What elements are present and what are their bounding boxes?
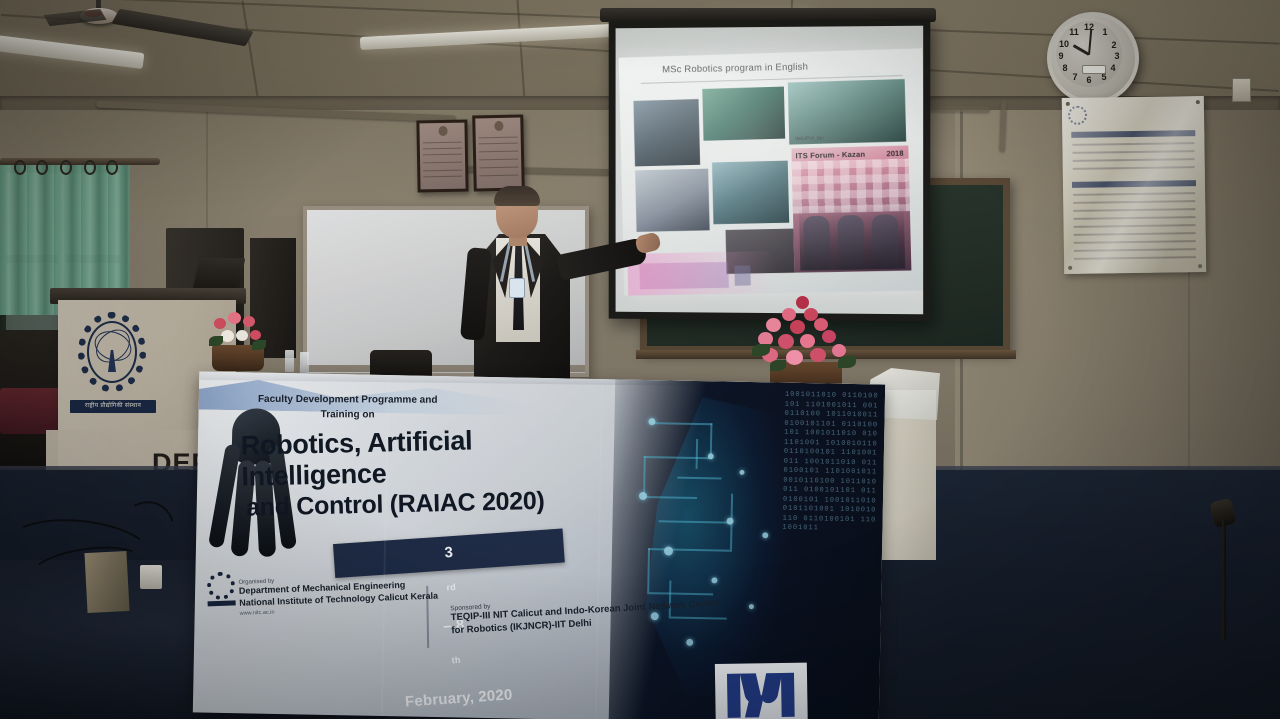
institute-motto-bar: राष्ट्रीय प्रौद्योगिकी संस्थान bbox=[70, 400, 156, 413]
presenter-right-hand bbox=[634, 231, 662, 254]
clock-numeral: 1 bbox=[1099, 27, 1111, 37]
banner-title: Robotics, Artificial Intelligence and Co… bbox=[218, 423, 570, 524]
notice-board bbox=[1062, 96, 1206, 274]
notice-pin bbox=[1068, 266, 1072, 270]
chalk-ledge bbox=[636, 350, 1016, 359]
curtain-ring bbox=[36, 160, 48, 175]
clock-numeral: 9 bbox=[1055, 51, 1067, 61]
clock-minute-hand bbox=[1088, 29, 1092, 55]
kazan-caption: ITS Forum - Kazan bbox=[795, 150, 865, 161]
slide-photo-caption: IMG/PIX_Mo bbox=[795, 136, 824, 143]
clock-numeral: 3 bbox=[1111, 51, 1123, 61]
group-photo-people bbox=[799, 206, 905, 270]
slide-title: MSc Robotics program in English bbox=[662, 62, 808, 76]
notice-pin bbox=[1196, 100, 1200, 104]
clock-numeral: 10 bbox=[1058, 39, 1070, 49]
projection-surface: MSc Robotics program in English IMG/PIX_… bbox=[616, 26, 924, 315]
clock-numeral: 7 bbox=[1069, 72, 1081, 82]
microphone-stand[interactable] bbox=[1222, 520, 1226, 640]
clock-numeral: 2 bbox=[1108, 40, 1120, 50]
nit-logo-small bbox=[207, 571, 236, 606]
curtain-ring bbox=[14, 160, 26, 175]
slide-footer-logo bbox=[734, 265, 750, 285]
photo-scene: 12 1 2 3 4 5 6 7 8 9 10 11 bbox=[0, 0, 1280, 719]
slide-photo-kazan: ITS Forum - Kazan 2018 bbox=[791, 145, 911, 272]
banner-heading-line2: Training on bbox=[321, 409, 375, 420]
clock-face: 12 1 2 3 4 5 6 7 8 9 10 11 bbox=[1056, 21, 1122, 87]
banner-heading: Faculty Development Programme and Traini… bbox=[213, 392, 483, 423]
red-chair[interactable] bbox=[0, 388, 62, 434]
notice-pin bbox=[1198, 264, 1202, 268]
curtain-ring bbox=[84, 160, 96, 175]
water-glass[interactable] bbox=[300, 352, 309, 374]
notice-glare bbox=[1062, 96, 1206, 274]
kazan-year: 2018 bbox=[886, 149, 903, 158]
ikjncr-mark-icon bbox=[727, 673, 794, 718]
curtain-ring bbox=[106, 160, 118, 175]
water-glass[interactable] bbox=[285, 350, 294, 372]
presenter bbox=[452, 186, 658, 382]
clock-numeral: 11 bbox=[1068, 27, 1080, 37]
presenter-right-arm bbox=[556, 237, 647, 281]
slide-photo bbox=[712, 161, 789, 225]
wall-seam bbox=[206, 110, 208, 230]
certificate-paper bbox=[475, 118, 521, 189]
id-badge bbox=[509, 278, 525, 298]
sponsor-logo-wall bbox=[792, 159, 910, 214]
banner-title-line1: Robotics, Artificial Intelligence bbox=[240, 423, 569, 492]
slide-photo bbox=[702, 87, 785, 141]
institute-motto-text: राष्ट्रीय प्रौद्योगिकी संस्थान bbox=[70, 400, 156, 413]
banner-heading-line1: Faculty Development Programme and bbox=[258, 394, 438, 406]
podium-microphone[interactable] bbox=[193, 258, 246, 290]
slide-photo bbox=[633, 99, 700, 166]
certificate-paper bbox=[419, 123, 465, 190]
clock-numeral: 8 bbox=[1059, 63, 1071, 73]
ikjncr-logo bbox=[715, 663, 808, 719]
framed-certificate bbox=[416, 120, 468, 193]
notice-pin bbox=[1066, 102, 1070, 106]
banner-organiser-block: Organised by Department of Mechanical En… bbox=[238, 573, 439, 617]
clock-numeral: 6 bbox=[1083, 75, 1095, 85]
slide-photo bbox=[788, 79, 906, 145]
nit-calicut-emblem bbox=[78, 312, 146, 396]
curtain-ring bbox=[60, 160, 72, 175]
clock-logo-plate bbox=[1082, 65, 1106, 74]
wall-switch-box[interactable] bbox=[1232, 78, 1251, 102]
framed-certificate bbox=[472, 114, 525, 191]
presenter-hair bbox=[494, 186, 540, 206]
certificate-seal-icon bbox=[438, 126, 447, 136]
clock-numeral: 12 bbox=[1083, 22, 1095, 32]
wall-clock: 12 1 2 3 4 5 6 7 8 9 10 11 bbox=[1047, 12, 1139, 104]
certificate-seal-icon bbox=[494, 121, 503, 131]
event-banner: 1001011010 0110100101 1101001011 0010110… bbox=[193, 371, 885, 719]
presentation-slide: MSc Robotics program in English IMG/PIX_… bbox=[619, 48, 924, 295]
